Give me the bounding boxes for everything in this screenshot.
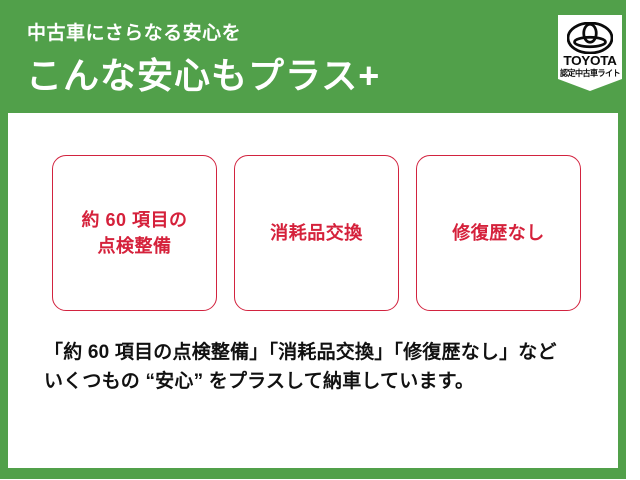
toyota-certification-label: 認定中古車ライト [560, 69, 621, 78]
feature-box-list: 約 60 項目の 点検整備 消耗品交換 修復歴なし [52, 155, 581, 311]
toyota-certified-badge: TOYOTA 認定中古車ライト [558, 15, 622, 99]
banner-header: 中古車にさらなる安心を こんな安心もプラス+ TOYOTA 認定中古車ライト [0, 0, 626, 113]
green-frame: 中古車にさらなる安心を こんな安心もプラス+ TOYOTA 認定中古車ライト [0, 0, 626, 479]
content-card: 約 60 項目の 点検整備 消耗品交換 修復歴なし 「約 60 項目の点検整備」… [8, 113, 618, 468]
promo-banner: 中古車にさらなる安心を こんな安心もプラス+ TOYOTA 認定中古車ライト [0, 0, 640, 480]
feature-box-inspection: 約 60 項目の 点検整備 [52, 155, 217, 311]
banner-caption: 「約 60 項目の点検整備」「消耗品交換」「修復歴なし」など いくつもの “安心… [44, 339, 604, 396]
feature-box-no-repair-history: 修復歴なし [416, 155, 581, 311]
feature-box-label: 消耗品交換 [270, 220, 363, 246]
feature-box-label: 修復歴なし [452, 220, 545, 246]
feature-box-label: 約 60 項目の 点検整備 [81, 207, 187, 259]
page-title: こんな安心もプラス+ [26, 53, 380, 98]
toyota-emblem-icon [567, 22, 613, 54]
header-subtitle: 中古車にさらなる安心を [27, 24, 241, 43]
feature-box-consumables: 消耗品交換 [234, 155, 399, 311]
badge-chevron-shape [558, 79, 622, 99]
toyota-wordmark: TOYOTA [558, 54, 622, 67]
